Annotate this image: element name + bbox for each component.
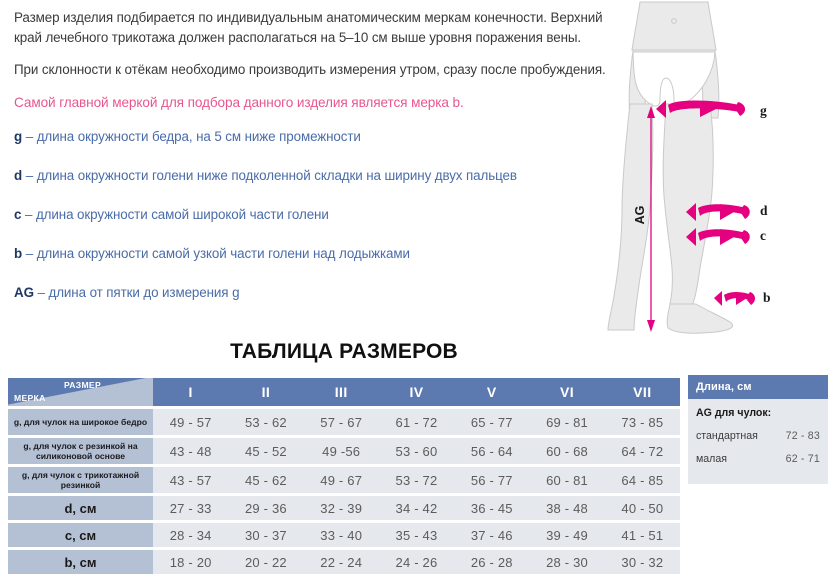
legend-desc-d: длина окружности голени ниже подколенной… xyxy=(37,168,517,183)
cell-r0-c5: 69 - 81 xyxy=(529,409,604,435)
cell-r1-c2: 49 -56 xyxy=(304,438,379,464)
legend-desc-c: длина окружности самой широкой части гол… xyxy=(36,207,329,222)
measurement-legend-list: g – длина окружности бедра, на 5 см ниже… xyxy=(14,128,614,302)
cell-r5-c6: 30 - 32 xyxy=(605,550,680,574)
length-panel-body: AG для чулок: стандартная 72 - 83 малая … xyxy=(688,399,828,484)
column-header-3: III xyxy=(304,378,379,406)
cell-r3-c0: 27 - 33 xyxy=(153,496,228,520)
legend-dash-b: – xyxy=(26,246,33,261)
length-panel: Длина, см AG для чулок: стандартная 72 -… xyxy=(688,375,828,484)
ag-label: AG xyxy=(633,206,647,225)
cell-r2-c0: 43 - 57 xyxy=(153,467,228,493)
legend-dash-c: – xyxy=(25,207,32,222)
legend-desc-g: длина окружности бедра, на 5 см ниже про… xyxy=(37,129,361,144)
cell-r5-c5: 28 - 30 xyxy=(529,550,604,574)
legend-key-ag: AG xyxy=(14,285,34,300)
length-row-small: малая 62 - 71 xyxy=(696,453,820,465)
column-header-1: I xyxy=(153,378,228,406)
cell-r1-c5: 60 - 68 xyxy=(529,438,604,464)
length-row-small-value: 62 - 71 xyxy=(786,453,820,465)
column-header-7: VII xyxy=(605,378,680,406)
cell-r4-c0: 28 - 34 xyxy=(153,523,228,547)
row-label-b: b, см xyxy=(8,550,153,574)
length-row-small-label: малая xyxy=(696,453,727,465)
key-measurement-note: Самой главной меркой для подбора данного… xyxy=(14,93,614,112)
table-row: g, для чулок на широкое бедро 49 - 57 53… xyxy=(8,409,680,435)
row-label-g-knit-band: g, для чулок с трикотажной резинкой xyxy=(8,467,153,493)
legend-desc-ag: длина от пятки до измерения g xyxy=(49,285,240,300)
legend-item-g: g – длина окружности бедра, на 5 см ниже… xyxy=(14,128,614,146)
legend-key-d: d xyxy=(14,168,22,183)
d-measure-label: d xyxy=(760,203,768,218)
legend-item-ag: AG – длина от пятки до измерения g xyxy=(14,284,614,302)
legend-item-d: d – длина окружности голени ниже подколе… xyxy=(14,167,614,185)
legend-dash-g: – xyxy=(26,129,33,144)
table-row: g, для чулок с резинкой на силиконовой о… xyxy=(8,438,680,464)
length-panel-header: Длина, см xyxy=(688,375,828,399)
cell-r2-c2: 49 - 67 xyxy=(304,467,379,493)
size-chart-page: Размер изделия подбирается по индивидуал… xyxy=(0,0,836,571)
d-circumference-arrow xyxy=(686,203,750,221)
column-header-2: II xyxy=(228,378,303,406)
cell-r3-c3: 34 - 42 xyxy=(379,496,454,520)
column-header-4: IV xyxy=(379,378,454,406)
cell-r0-c3: 61 - 72 xyxy=(379,409,454,435)
row-label-g-silicone-band: g, для чулок с резинкой на силиконовой о… xyxy=(8,438,153,464)
legend-desc-b: длина окружности самой узкой части голен… xyxy=(37,246,410,261)
length-row-standard-label: стандартная xyxy=(696,430,758,442)
cell-r4-c1: 30 - 37 xyxy=(228,523,303,547)
cell-r2-c1: 45 - 62 xyxy=(228,467,303,493)
cell-r4-c5: 39 - 49 xyxy=(529,523,604,547)
cell-r5-c1: 20 - 22 xyxy=(228,550,303,574)
table-row: c, см 28 - 34 30 - 37 33 - 40 35 - 43 37… xyxy=(8,523,680,547)
cell-r4-c2: 33 - 40 xyxy=(304,523,379,547)
b-circumference-arrow xyxy=(714,291,755,306)
intro-paragraph-2: При склонности к отёкам необходимо произ… xyxy=(14,60,614,80)
legend-dash-ag: – xyxy=(38,285,45,300)
length-row-standard: стандартная 72 - 83 xyxy=(696,430,820,442)
size-table-wrapper: МЕРКА РАЗМЕР I II III IV V VI VII g, для… xyxy=(8,375,680,577)
row-label-c: c, см xyxy=(8,523,153,547)
cell-r5-c3: 24 - 26 xyxy=(379,550,454,574)
corner-row-header-label: МЕРКА xyxy=(14,393,46,403)
g-measure-label: g xyxy=(760,103,767,118)
c-circumference-arrow xyxy=(686,228,750,246)
table-row: d, см 27 - 33 29 - 36 32 - 39 34 - 42 36… xyxy=(8,496,680,520)
cell-r0-c0: 49 - 57 xyxy=(153,409,228,435)
cell-r1-c3: 53 - 60 xyxy=(379,438,454,464)
cell-r3-c4: 36 - 45 xyxy=(454,496,529,520)
leg-measurement-illustration: AG g d c xyxy=(600,0,836,345)
cell-r0-c2: 57 - 67 xyxy=(304,409,379,435)
cell-r0-c4: 65 - 77 xyxy=(454,409,529,435)
length-row-standard-value: 72 - 83 xyxy=(786,430,820,442)
table-row: b, см 18 - 20 20 - 22 22 - 24 24 - 26 26… xyxy=(8,550,680,574)
size-table: МЕРКА РАЗМЕР I II III IV V VI VII g, для… xyxy=(8,375,680,577)
legend-dash-d: – xyxy=(26,168,33,183)
c-measure-label: c xyxy=(760,228,766,243)
cell-r1-c4: 56 - 64 xyxy=(454,438,529,464)
row-label-g-wide-thigh: g, для чулок на широкое бедро xyxy=(8,409,153,435)
corner-header-cell: МЕРКА РАЗМЕР xyxy=(8,378,153,406)
body-figure-shape xyxy=(608,2,733,333)
cell-r2-c3: 53 - 72 xyxy=(379,467,454,493)
legend-key-c: c xyxy=(14,207,21,222)
legend-item-c: c – длина окружности самой широкой части… xyxy=(14,206,614,224)
cell-r1-c6: 64 - 72 xyxy=(605,438,680,464)
cell-r5-c2: 22 - 24 xyxy=(304,550,379,574)
table-header-row: МЕРКА РАЗМЕР I II III IV V VI VII xyxy=(8,378,680,406)
cell-r0-c6: 73 - 85 xyxy=(605,409,680,435)
column-header-5: V xyxy=(454,378,529,406)
column-header-6: VI xyxy=(529,378,604,406)
legend-key-b: b xyxy=(14,246,22,261)
instructions-column: Размер изделия подбирается по индивидуал… xyxy=(14,8,614,323)
legend-item-b: b – длина окружности самой узкой части г… xyxy=(14,245,614,263)
cell-r1-c1: 45 - 52 xyxy=(228,438,303,464)
cell-r3-c1: 29 - 36 xyxy=(228,496,303,520)
cell-r4-c6: 41 - 51 xyxy=(605,523,680,547)
corner-col-header-label: РАЗМЕР xyxy=(64,380,101,390)
cell-r0-c1: 53 - 62 xyxy=(228,409,303,435)
table-row: g, для чулок с трикотажной резинкой 43 -… xyxy=(8,467,680,493)
cell-r2-c4: 56 - 77 xyxy=(454,467,529,493)
row-label-d: d, см xyxy=(8,496,153,520)
length-panel-subtitle: AG для чулок: xyxy=(696,407,820,419)
intro-paragraph-1: Размер изделия подбирается по индивидуал… xyxy=(14,8,614,47)
cell-r3-c5: 38 - 48 xyxy=(529,496,604,520)
cell-r5-c4: 26 - 28 xyxy=(454,550,529,574)
cell-r1-c0: 43 - 48 xyxy=(153,438,228,464)
legend-key-g: g xyxy=(14,129,22,144)
table-title: ТАБЛИЦА РАЗМЕРОВ xyxy=(0,340,688,364)
b-measure-label: b xyxy=(763,290,771,305)
cell-r3-c2: 32 - 39 xyxy=(304,496,379,520)
cell-r4-c3: 35 - 43 xyxy=(379,523,454,547)
cell-r2-c6: 64 - 85 xyxy=(605,467,680,493)
cell-r3-c6: 40 - 50 xyxy=(605,496,680,520)
cell-r5-c0: 18 - 20 xyxy=(153,550,228,574)
cell-r2-c5: 60 - 81 xyxy=(529,467,604,493)
cell-r4-c4: 37 - 46 xyxy=(454,523,529,547)
